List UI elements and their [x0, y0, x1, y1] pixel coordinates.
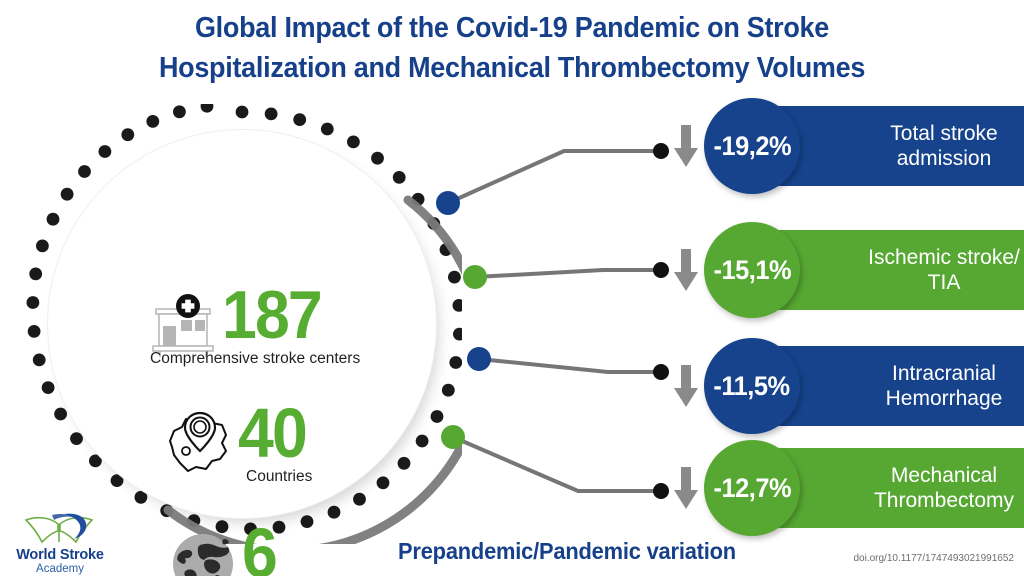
callout-label-3-line2: Hemorrhage — [886, 387, 1003, 410]
callout-value-4: -12,7% — [713, 473, 791, 504]
callout-label-3-line1: Intracranial — [892, 362, 996, 385]
callout-total-stroke-admission[interactable]: Total stroke admission -19,2% — [672, 100, 1024, 192]
connector-anchor-dot-navy — [436, 191, 460, 215]
callout-intracranial-hemorrhage[interactable]: Intracranial Hemorrhage -11,5% — [672, 340, 1024, 432]
callout-label-2: Ischemic stroke/ TIA — [836, 245, 1024, 295]
callout-label-1-line1: Total stroke — [890, 122, 997, 145]
callout-label-1-line2: admission — [897, 147, 992, 170]
callout-pill-group-3: Intracranial Hemorrhage -11,5% — [704, 346, 1024, 426]
arrow-down-icon — [672, 465, 700, 511]
callout-label-3: Intracranial Hemorrhage — [836, 361, 1024, 411]
callout-ischemic-stroke-tia[interactable]: Ischemic stroke/ TIA -15,1% — [672, 224, 1024, 316]
footer-caption: Prepandemic/Pandemic variation — [398, 538, 736, 565]
callout-value-2: -15,1% — [713, 255, 791, 286]
arrow-down-icon — [672, 363, 700, 409]
callout-label-4: Mechanical Thrombectomy — [836, 463, 1024, 513]
infographic-canvas: Global Impact of the Covid-19 Pandemic o… — [0, 0, 1024, 576]
callout-label-2-line1: Ischemic stroke/ — [868, 246, 1020, 269]
connector-anchor-dot-green — [463, 265, 487, 289]
connector-endpoint-dot — [653, 364, 669, 380]
callout-badge-2[interactable]: -15,1% — [704, 222, 800, 318]
connector-anchor-dot-navy — [467, 347, 491, 371]
callout-badge-1[interactable]: -19,2% — [704, 98, 800, 194]
callout-pill-group-4: Mechanical Thrombectomy -12,7% — [704, 448, 1024, 528]
connector-endpoint-dot — [653, 483, 669, 499]
callout-value-1: -19,2% — [713, 131, 791, 162]
doi-link[interactable]: doi.org/10.1177/1747493021991652 — [853, 553, 1014, 564]
callout-label-4-line2: Thrombectomy — [874, 489, 1014, 512]
callout-pill-group-2: Ischemic stroke/ TIA -15,1% — [704, 230, 1024, 310]
world-stroke-academy-logo[interactable]: World Stroke Academy — [4, 512, 116, 576]
arrow-down-icon — [672, 247, 700, 293]
callout-badge-4[interactable]: -12,7% — [704, 440, 800, 536]
callout-value-3: -11,5% — [714, 371, 790, 402]
callout-label-2-line2: TIA — [928, 271, 961, 294]
connector-endpoint-dot — [653, 262, 669, 278]
open-book-swoosh-logo-icon — [16, 512, 104, 546]
callout-badge-3[interactable]: -11,5% — [704, 338, 800, 434]
callout-label-1: Total stroke admission — [836, 121, 1024, 171]
connector-anchor-dot-green — [441, 425, 465, 449]
callout-pill-group-1: Total stroke admission -19,2% — [704, 106, 1024, 186]
arrow-down-icon — [672, 123, 700, 169]
logo-line-2: Academy — [4, 563, 116, 576]
logo-line-1: World Stroke — [4, 547, 116, 563]
callout-mechanical-thrombectomy[interactable]: Mechanical Thrombectomy -12,7% — [672, 442, 1024, 534]
callout-label-4-line1: Mechanical — [891, 464, 997, 487]
connector-endpoint-dot — [653, 143, 669, 159]
